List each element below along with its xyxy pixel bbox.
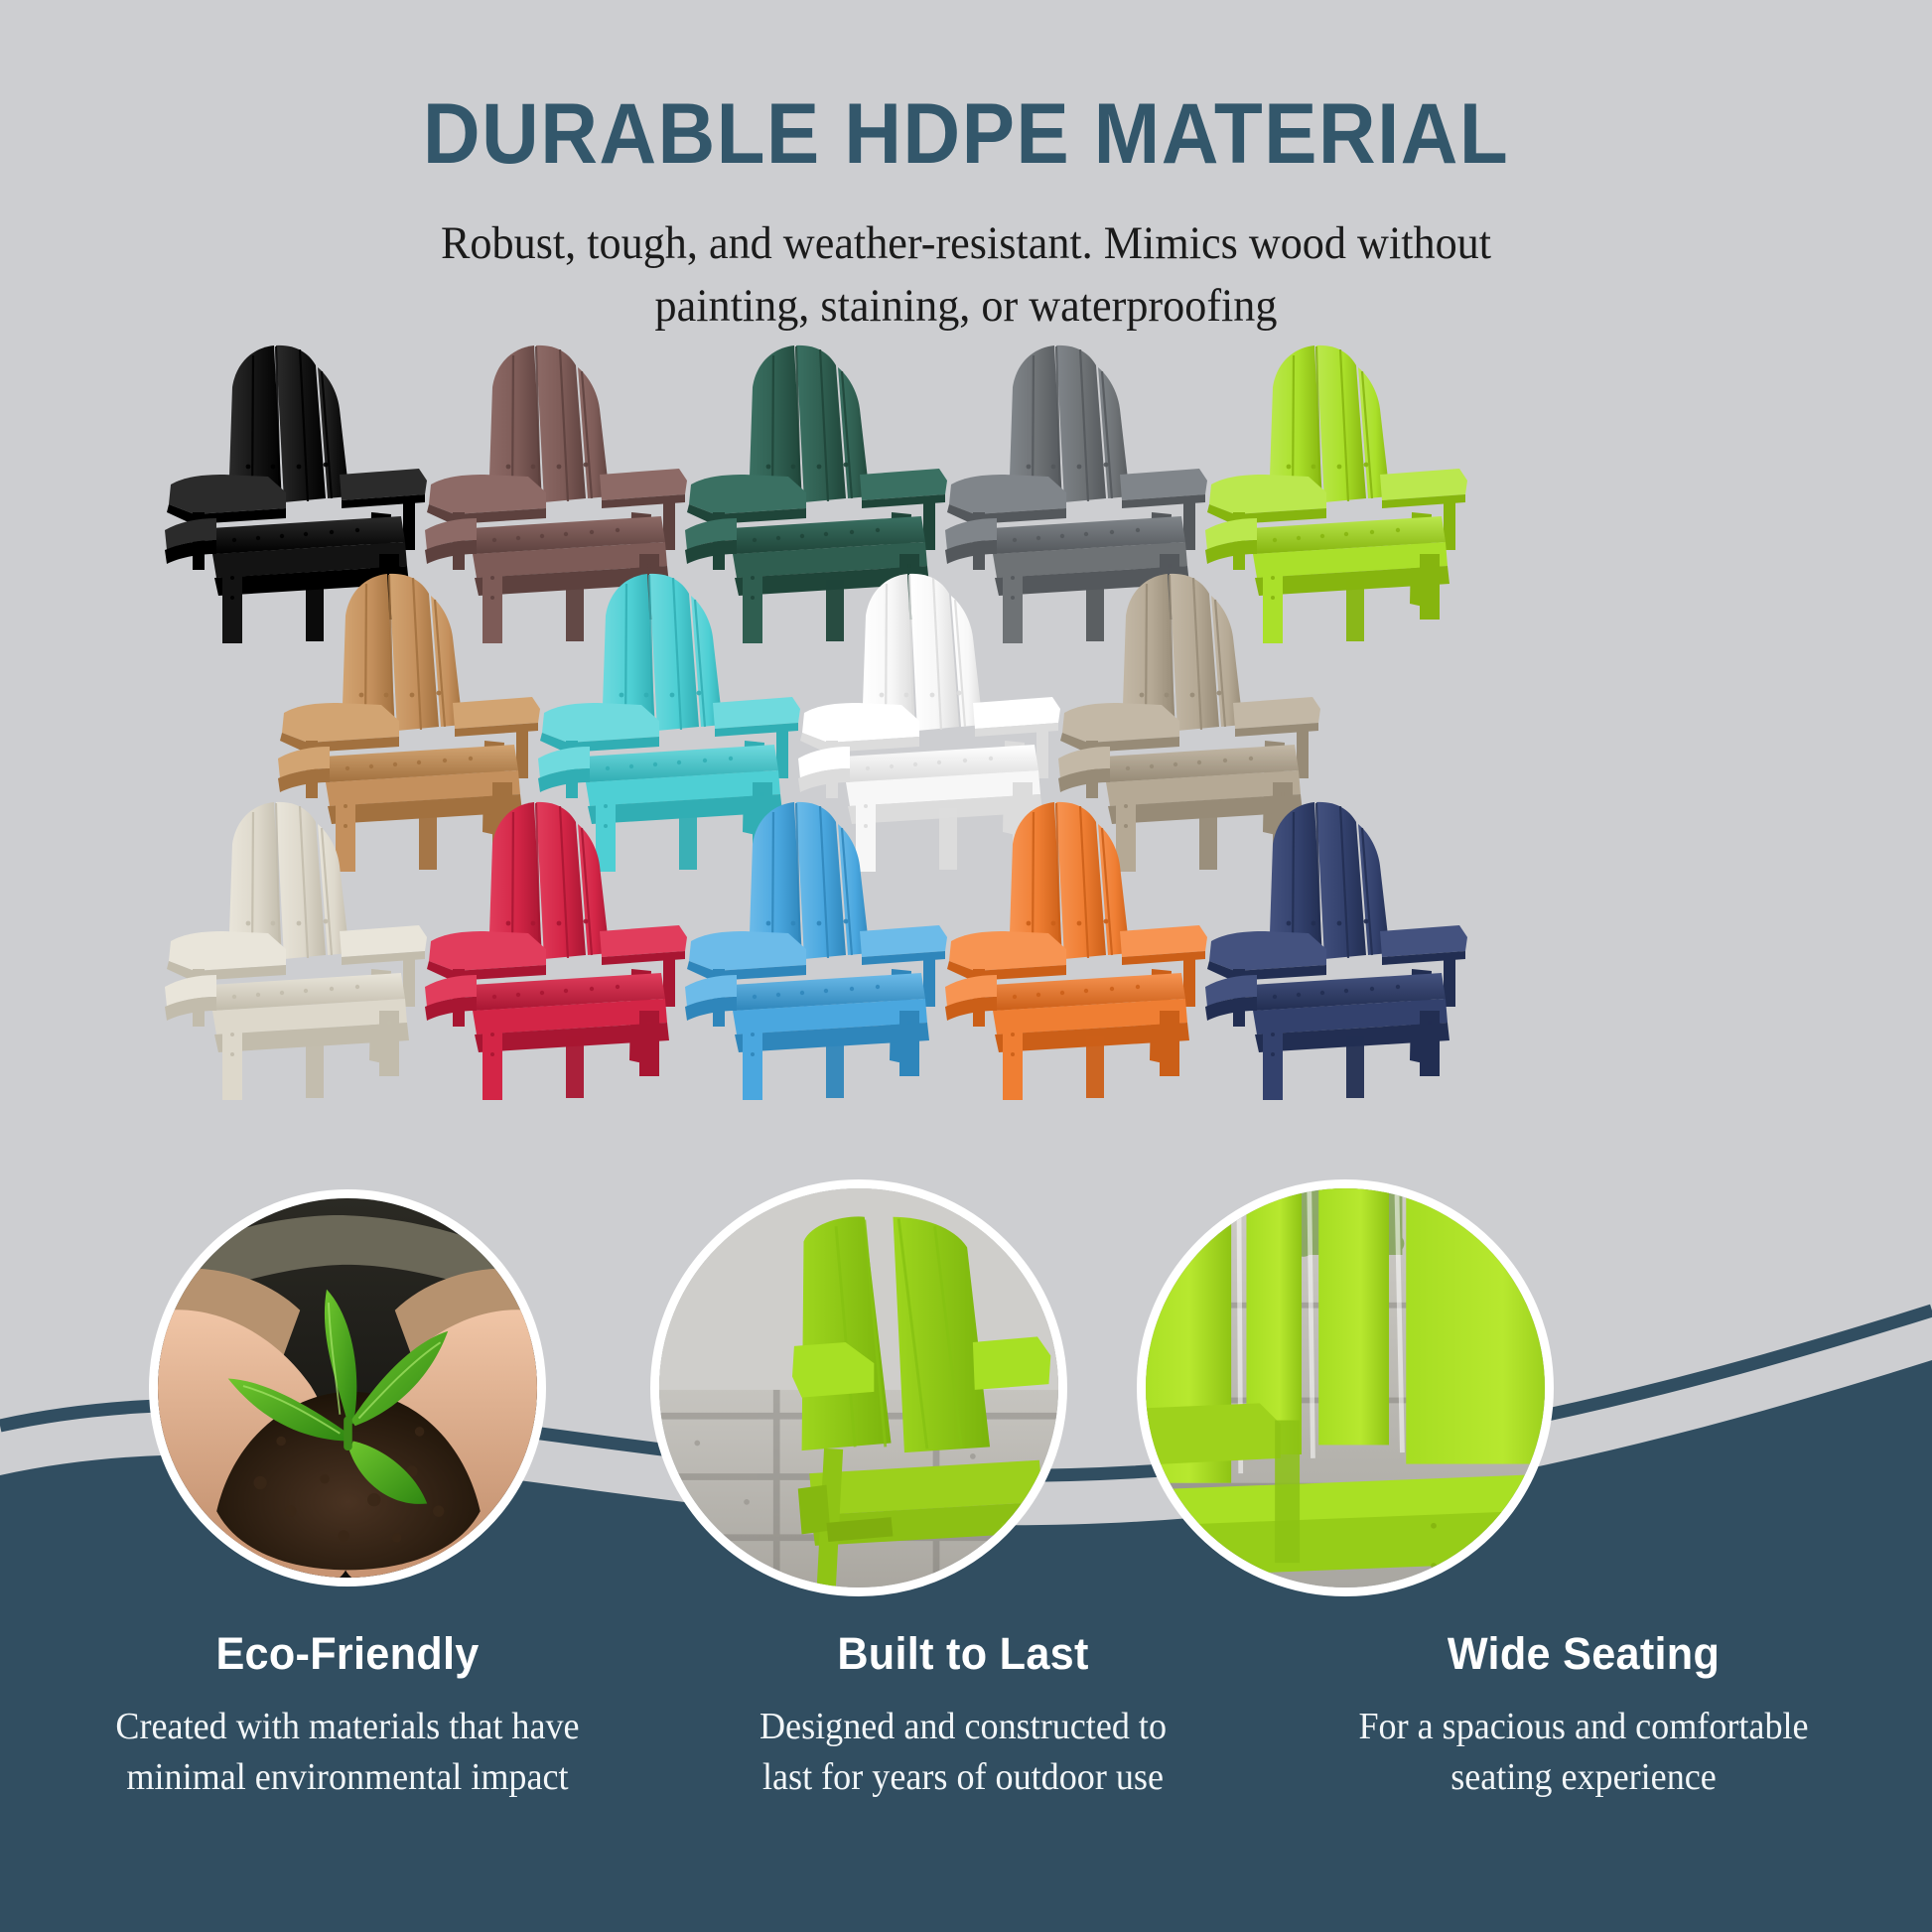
feature-desc-line-2: last for years of outdoor use (762, 1756, 1164, 1798)
adirondack-chair-light-blue (657, 774, 955, 1102)
adirondack-chair-navy-blue (1177, 774, 1475, 1102)
feature-title-built-to-last: Built to Last (667, 1628, 1258, 1680)
color-swatch-red[interactable] (397, 774, 695, 1102)
infographic-canvas: DURABLE HDPE MATERIAL Robust, tough, and… (0, 0, 1932, 1932)
seedling-in-hands-icon (158, 1198, 537, 1578)
header-block: DURABLE HDPE MATERIAL Robust, tough, and… (0, 91, 1932, 339)
color-swatch-navy-blue[interactable] (1177, 774, 1475, 1102)
color-swatch-ivory-cream[interactable] (137, 774, 435, 1102)
feature-desc-built-to-last: Designed and constructed to last for yea… (671, 1702, 1256, 1803)
feature-photo-wide-seating (1137, 1179, 1554, 1596)
feature-desc-line-2: seating experience (1450, 1756, 1717, 1798)
green-adirondack-chair-icon (659, 1188, 1058, 1587)
feature-photo-built-to-last (650, 1179, 1067, 1596)
color-swatch-grid (0, 367, 1932, 1241)
feature-desc-line-1: Created with materials that have (115, 1706, 579, 1747)
adirondack-chair-red (397, 774, 695, 1102)
feature-title-eco-friendly: Eco-Friendly (52, 1628, 642, 1680)
feature-desc-line-1: Designed and constructed to (759, 1706, 1167, 1747)
feature-desc-line-1: For a spacious and comfortable (1358, 1706, 1808, 1747)
feature-title-wide-seating: Wide Seating (1284, 1628, 1884, 1680)
feature-desc-eco-friendly: Created with materials that have minimal… (56, 1702, 640, 1803)
feature-eco-friendly: Eco-Friendly Created with materials that… (40, 1628, 655, 1803)
feature-photo-eco-friendly (149, 1189, 546, 1587)
page-title: DURABLE HDPE MATERIAL (68, 91, 1864, 177)
feature-desc-line-2: minimal environmental impact (126, 1756, 568, 1798)
subtitle-line-1: Robust, tough, and weather-resistant. Mi… (58, 212, 1873, 275)
feature-desc-wide-seating: For a spacious and comfortable seating e… (1287, 1702, 1881, 1803)
feature-built-to-last: Built to Last Designed and constructed t… (655, 1628, 1271, 1803)
green-chair-seat-closeup-icon (1146, 1188, 1545, 1587)
adirondack-chair-orange (917, 774, 1215, 1102)
feature-wide-seating: Wide Seating For a spacious and comforta… (1271, 1628, 1896, 1803)
color-swatch-orange[interactable] (917, 774, 1215, 1102)
color-swatch-light-blue[interactable] (657, 774, 955, 1102)
adirondack-chair-ivory-cream (137, 774, 435, 1102)
feature-photo-row (0, 1179, 1932, 1606)
